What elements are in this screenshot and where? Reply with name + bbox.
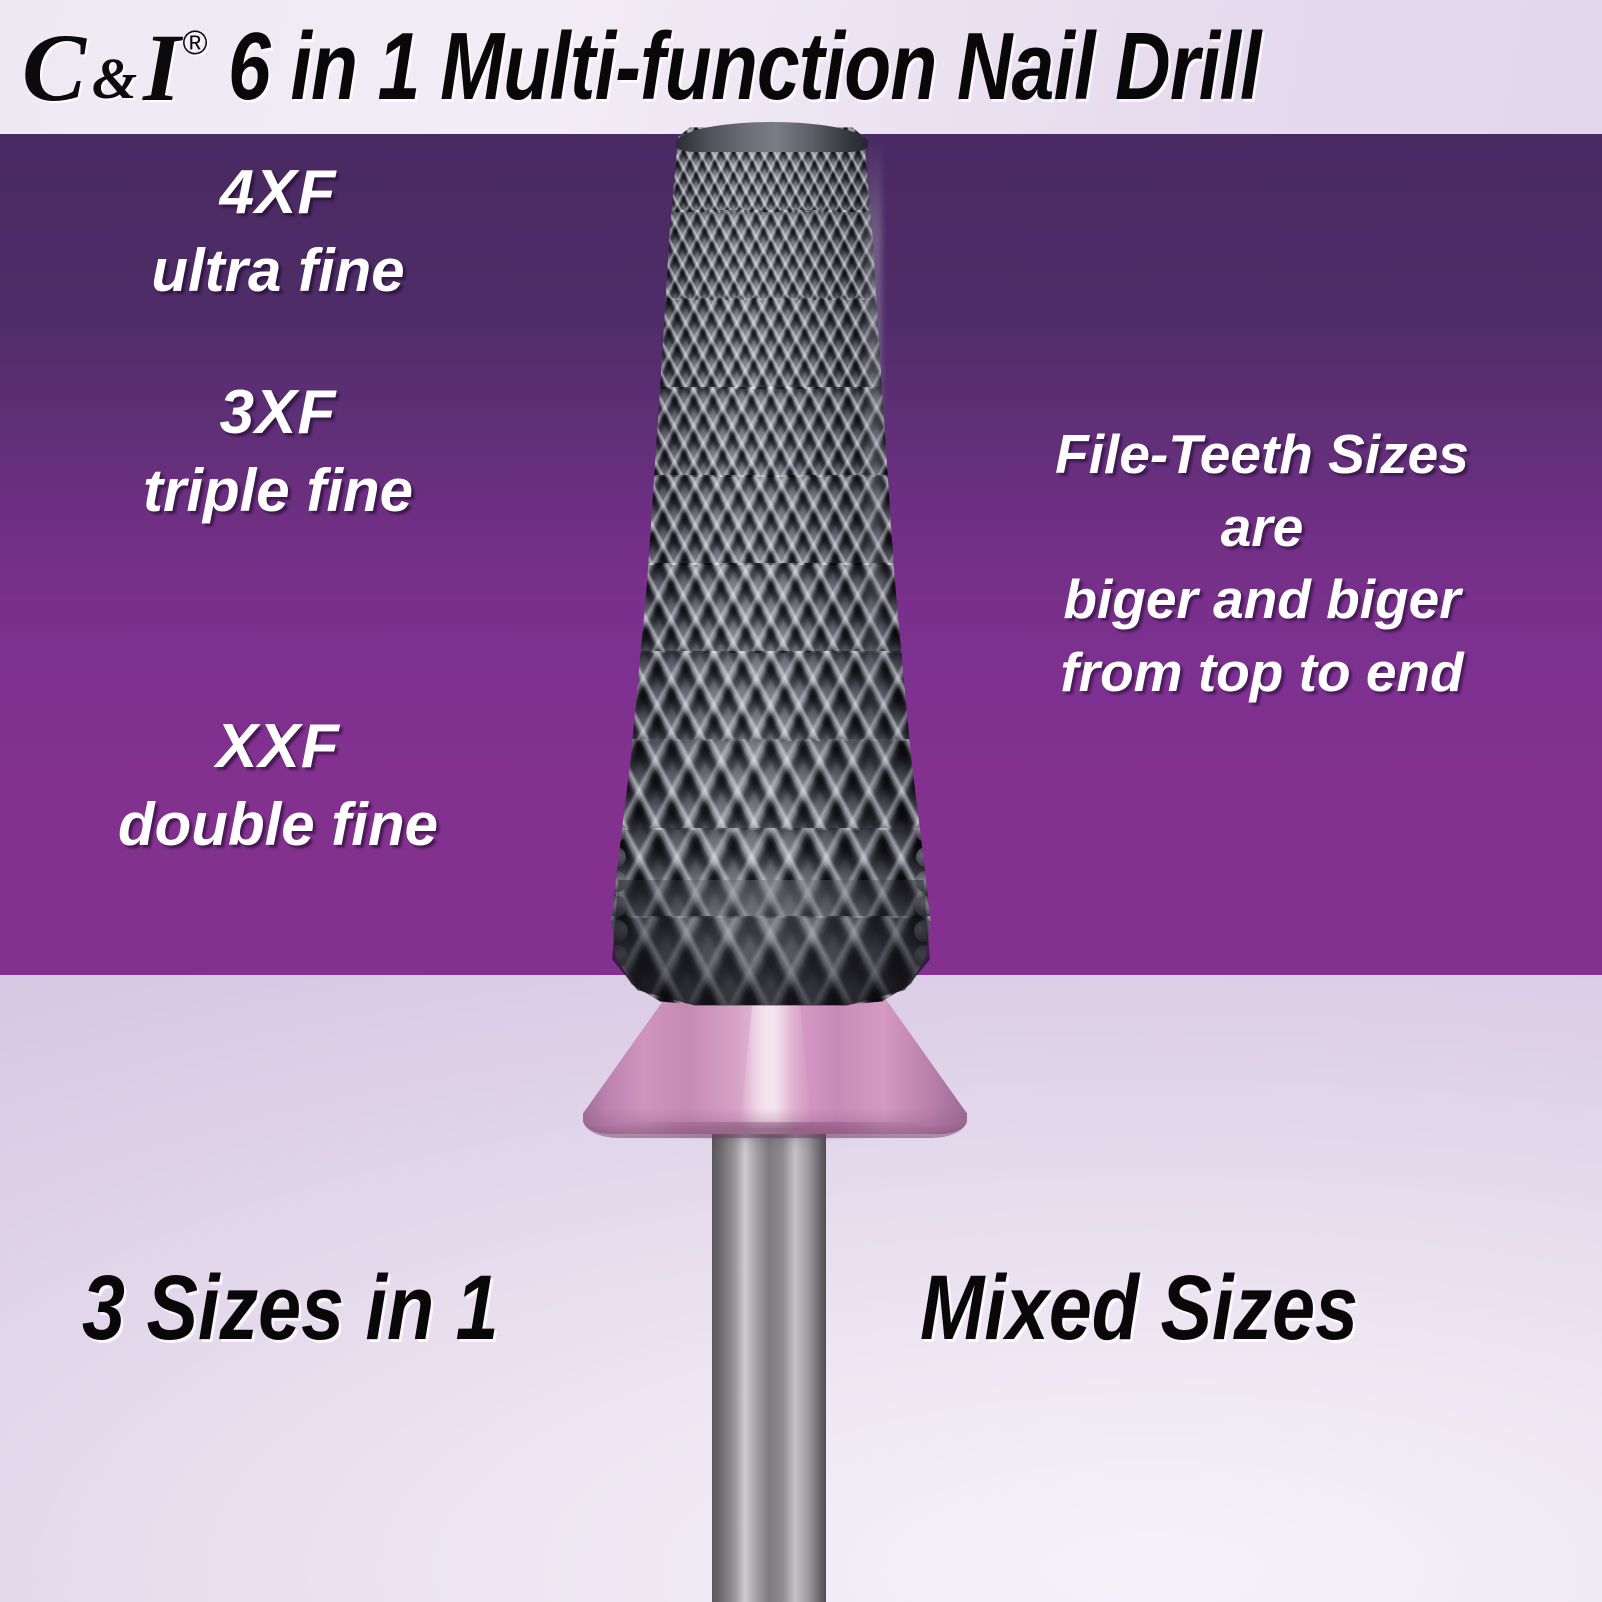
registered-mark-icon: ® [183, 24, 208, 63]
file-teeth-note: File-Teeth Sizes are biger and biger fro… [952, 418, 1572, 708]
note-line-1: File-Teeth Sizes [952, 418, 1572, 491]
grit-description: ultra fine [18, 237, 538, 304]
caption-sizes-in-one: 3 Sizes in 1 [82, 1256, 499, 1361]
grit-label-4xf: 4XF ultra fine [18, 158, 538, 305]
brand-logo: C & I ® [22, 12, 206, 123]
page-title: 6 in 1 Multi-function Nail Drill [228, 12, 1261, 122]
grit-label-xxf: XXF double fine [18, 712, 538, 859]
brand-letter-c: C [22, 12, 86, 123]
note-line-4: from top to end [952, 636, 1572, 709]
grit-code: 3XF [18, 378, 538, 447]
brand-letter-i: I [143, 12, 180, 123]
grit-label-3xf: 3XF triple fine [18, 378, 538, 525]
grit-description: triple fine [18, 457, 538, 524]
product-infographic: C & I ® 6 in 1 Multi-function Nail Drill… [0, 0, 1602, 1602]
grit-code: XXF [18, 712, 538, 781]
grit-description: double fine [18, 791, 538, 858]
grit-code: 4XF [18, 158, 538, 227]
caption-mixed-sizes: Mixed Sizes [920, 1256, 1358, 1361]
note-line-3: biger and biger [952, 563, 1572, 636]
headline: C & I ® 6 in 1 Multi-function Nail Drill [0, 0, 1602, 134]
note-line-2: are [952, 491, 1572, 564]
brand-ampersand: & [86, 45, 143, 112]
